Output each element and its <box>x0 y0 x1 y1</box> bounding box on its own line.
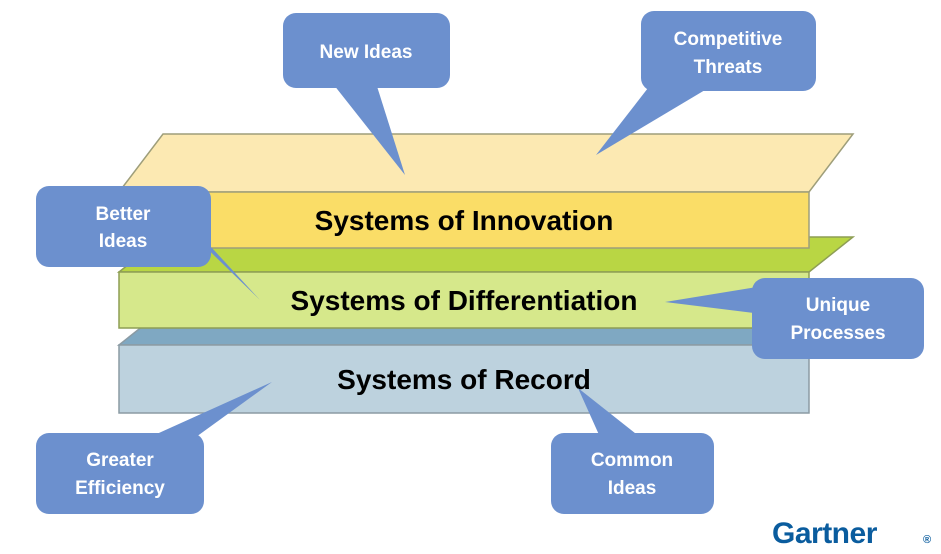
diagram-canvas: Systems of Record Systems of Differentia… <box>0 0 941 554</box>
callout-unique-processes-label-line2: Processes <box>790 323 885 344</box>
layer-innovation-label: Systems of Innovation <box>315 205 614 236</box>
callout-better-ideas-box <box>36 186 211 267</box>
callout-common-ideas[interactable]: Common Ideas <box>551 433 714 514</box>
callout-new-ideas-label: New Ideas <box>320 42 413 63</box>
gartner-logo-wordmark: Gartner <box>772 517 878 550</box>
layer-differentiation-label: Systems of Differentiation <box>291 285 638 316</box>
callout-unique-processes-box <box>752 278 924 359</box>
callout-competitive-threats-label-line1: Competitive <box>674 29 783 50</box>
callout-competitive-threats[interactable]: Competitive Threats <box>641 11 816 91</box>
layer-innovation-top-face <box>119 134 853 192</box>
callout-greater-efficiency-label-line1: Greater <box>86 450 154 471</box>
callout-greater-efficiency-label-line2: Efficiency <box>75 478 165 499</box>
callout-better-ideas-label-line2: Ideas <box>99 231 148 252</box>
layer-differentiation[interactable]: Systems of Differentiation <box>119 237 853 328</box>
callout-greater-efficiency[interactable]: Greater Efficiency <box>36 433 204 514</box>
gartner-logo: Gartner ® <box>772 517 931 550</box>
callout-competitive-threats-label-line2: Threats <box>694 57 763 78</box>
callout-greater-efficiency-box <box>36 433 204 514</box>
callout-better-ideas-label-line1: Better <box>96 204 152 225</box>
callout-better-ideas[interactable]: Better Ideas <box>36 186 211 267</box>
callout-unique-processes[interactable]: Unique Processes <box>752 278 924 359</box>
callout-new-ideas[interactable]: New Ideas <box>283 13 450 88</box>
callout-competitive-threats-box <box>641 11 816 91</box>
callout-common-ideas-label-line2: Ideas <box>608 478 657 499</box>
gartner-logo-registered-mark: ® <box>923 534 931 546</box>
callout-common-ideas-label-line1: Common <box>591 450 673 471</box>
layered-stack-diagram: Systems of Record Systems of Differentia… <box>0 0 941 554</box>
callout-common-ideas-box <box>551 433 714 514</box>
layer-record-label: Systems of Record <box>337 364 591 395</box>
callout-unique-processes-label-line1: Unique <box>806 295 870 316</box>
layer-innovation[interactable]: Systems of Innovation <box>119 134 853 248</box>
